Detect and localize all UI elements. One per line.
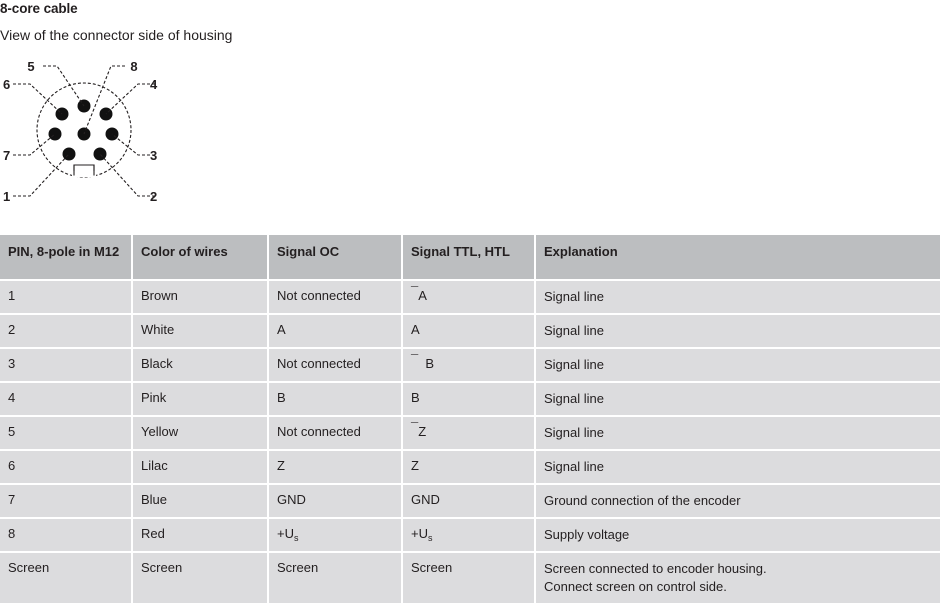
cell-wire-color: Screen <box>133 553 269 603</box>
table-header-row: PIN, 8-pole in M12 Color of wires Signal… <box>0 235 940 279</box>
leader-line-2 <box>100 154 155 196</box>
column-header-explanation: Explanation <box>536 235 940 279</box>
table-row: 8Red+Us+UsSupply voltage <box>0 519 940 551</box>
overbar-glyph: ¯ <box>411 287 418 297</box>
inverted-signal: ¯Z <box>411 424 426 439</box>
table-row: 4PinkBBSignal line <box>0 383 940 415</box>
explanation-line: Ground connection of the encoder <box>544 492 940 510</box>
pin-label-8: 8 <box>130 59 137 74</box>
cell-signal-ttl: Screen <box>403 553 536 603</box>
page-subtitle: View of the connector side of housing <box>0 26 232 44</box>
pin-label-2: 2 <box>150 189 157 204</box>
cell-signal-ttl: ¯ B <box>403 349 536 381</box>
table-row: ScreenScreenScreenScreenScreen connected… <box>0 553 940 603</box>
explanation-line: Signal line <box>544 356 940 374</box>
cell-signal-ttl: ¯A <box>403 281 536 313</box>
cell-signal-ttl: +Us <box>403 519 536 551</box>
cell-signal-oc: Not connected <box>269 281 403 313</box>
pin-assignment-table: PIN, 8-pole in M12 Color of wires Signal… <box>0 233 940 605</box>
leader-line-1 <box>13 154 69 196</box>
leader-line-3 <box>112 134 155 155</box>
pin-label-6: 6 <box>3 77 10 92</box>
pin-label-7: 7 <box>3 148 10 163</box>
column-header-color: Color of wires <box>133 235 269 279</box>
cell-signal-oc: GND <box>269 485 403 517</box>
explanation-line: Connect screen on control side. <box>544 578 940 596</box>
page-title: 8-core cable <box>0 0 78 17</box>
cell-explanation: Signal line <box>536 315 940 347</box>
leader-line-4 <box>106 84 155 114</box>
subscript: s <box>428 533 433 543</box>
explanation-line: Supply voltage <box>544 526 940 544</box>
overbar-glyph: ¯ <box>411 423 418 433</box>
cell-pin: Screen <box>0 553 133 603</box>
column-header-pin: PIN, 8-pole in M12 <box>0 235 133 279</box>
leader-line-5 <box>43 66 84 106</box>
pin-label-4: 4 <box>150 77 158 92</box>
cell-wire-color: White <box>133 315 269 347</box>
cell-wire-color: Lilac <box>133 451 269 483</box>
cell-explanation: Screen connected to encoder housing.Conn… <box>536 553 940 603</box>
page-root: 8-core cable View of the connector side … <box>0 0 940 533</box>
cell-pin: 7 <box>0 485 133 517</box>
explanation-line: Signal line <box>544 322 940 340</box>
cell-signal-oc: Screen <box>269 553 403 603</box>
cell-signal-oc: B <box>269 383 403 415</box>
column-header-signal-oc: Signal OC <box>269 235 403 279</box>
pin-label-5: 5 <box>27 59 34 74</box>
cell-wire-color: Yellow <box>133 417 269 449</box>
table-header: PIN, 8-pole in M12 Color of wires Signal… <box>0 235 940 279</box>
cell-pin: 1 <box>0 281 133 313</box>
pin-label-1: 1 <box>3 189 10 204</box>
cell-wire-color: Red <box>133 519 269 551</box>
connector-pins <box>49 100 119 161</box>
cell-signal-oc: Z <box>269 451 403 483</box>
table-row: 7BlueGNDGNDGround connection of the enco… <box>0 485 940 517</box>
explanation-line: Screen connected to encoder housing. <box>544 560 940 578</box>
cell-explanation: Signal line <box>536 281 940 313</box>
column-header-signal-ttl: Signal TTL, HTL <box>403 235 536 279</box>
cell-wire-color: Blue <box>133 485 269 517</box>
cell-signal-ttl: B <box>403 383 536 415</box>
cell-wire-color: Black <box>133 349 269 381</box>
cell-explanation: Signal line <box>536 383 940 415</box>
cell-signal-oc: A <box>269 315 403 347</box>
connector-diagram: 5 8 6 4 7 3 1 2 <box>0 55 180 210</box>
explanation-line: Signal line <box>544 390 940 408</box>
leader-line-6 <box>13 84 62 114</box>
cell-signal-ttl: Z <box>403 451 536 483</box>
cell-signal-oc: Not connected <box>269 417 403 449</box>
cell-wire-color: Pink <box>133 383 269 415</box>
cell-explanation: Ground connection of the encoder <box>536 485 940 517</box>
table-row: 5YellowNot connected¯ZSignal line <box>0 417 940 449</box>
pin-dot-7 <box>49 128 62 141</box>
explanation-line: Signal line <box>544 288 940 306</box>
cell-pin: 2 <box>0 315 133 347</box>
cell-explanation: Signal line <box>536 451 940 483</box>
cell-signal-ttl: ¯Z <box>403 417 536 449</box>
explanation-line: Signal line <box>544 424 940 442</box>
cell-signal-oc: Not connected <box>269 349 403 381</box>
cell-signal-oc: +Us <box>269 519 403 551</box>
cell-pin: 3 <box>0 349 133 381</box>
table-row: 2WhiteAASignal line <box>0 315 940 347</box>
table-row: 1BrownNot connected¯ASignal line <box>0 281 940 313</box>
inverted-signal: ¯ B <box>411 356 434 371</box>
cell-signal-ttl: A <box>403 315 536 347</box>
table-row: 3BlackNot connected¯ BSignal line <box>0 349 940 381</box>
cell-wire-color: Brown <box>133 281 269 313</box>
cell-pin: 5 <box>0 417 133 449</box>
cell-pin: 8 <box>0 519 133 551</box>
cell-pin: 4 <box>0 383 133 415</box>
inverted-signal: ¯A <box>411 288 427 303</box>
table-body: 1BrownNot connected¯ASignal line2WhiteAA… <box>0 281 940 603</box>
overbar-glyph: ¯ <box>411 355 418 365</box>
cell-explanation: Signal line <box>536 417 940 449</box>
subscript: s <box>294 533 299 543</box>
cell-explanation: Supply voltage <box>536 519 940 551</box>
cell-signal-ttl: GND <box>403 485 536 517</box>
cell-pin: 6 <box>0 451 133 483</box>
cell-explanation: Signal line <box>536 349 940 381</box>
table-row: 6LilacZZSignal line <box>0 451 940 483</box>
pin-label-3: 3 <box>150 148 157 163</box>
leader-line-7 <box>13 134 55 155</box>
explanation-line: Signal line <box>544 458 940 476</box>
leader-line-8 <box>84 66 125 134</box>
